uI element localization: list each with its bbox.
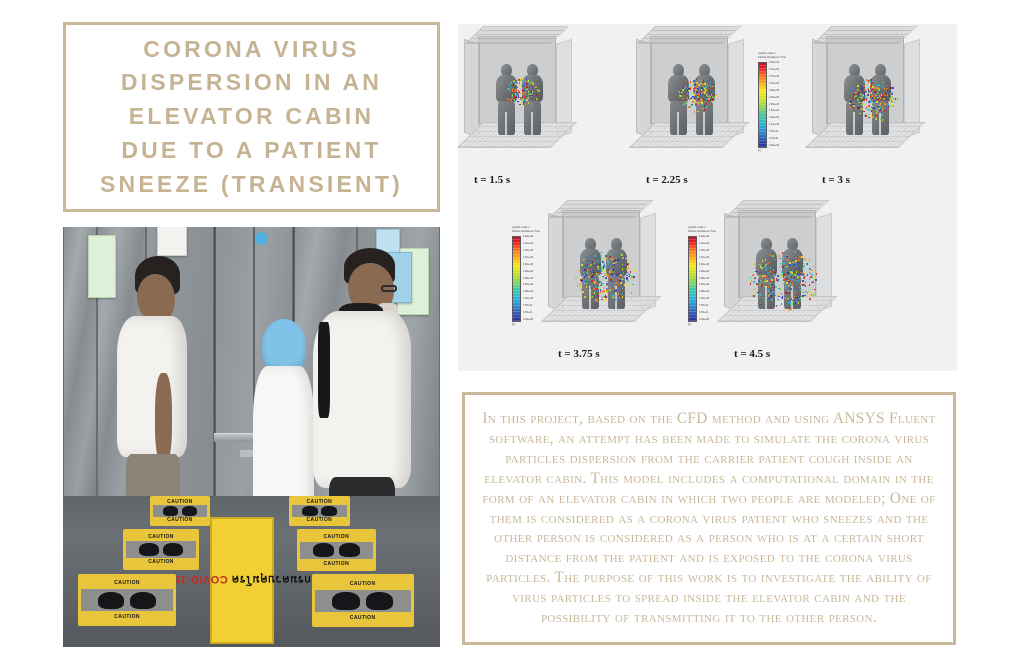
colorbar-tick: 3.37e+00 <box>769 83 779 85</box>
particle <box>615 295 617 297</box>
particle <box>611 258 613 260</box>
particle <box>758 277 760 279</box>
particle <box>612 269 614 271</box>
particle <box>868 109 870 111</box>
foot-shape <box>313 543 334 557</box>
floor-sticker: CAUTION CAUTION <box>289 496 349 526</box>
colorbar-tick: 2.62e+00 <box>523 271 533 273</box>
particle <box>710 85 712 87</box>
particle <box>816 273 818 275</box>
particle-cloud <box>464 36 574 154</box>
particle <box>873 107 875 109</box>
particle <box>708 100 710 102</box>
particle <box>631 277 633 279</box>
particle <box>815 279 817 281</box>
particle <box>610 283 612 285</box>
particle <box>711 101 713 103</box>
foot-shape <box>163 543 183 556</box>
colorbar-tick: 3.75e-01 <box>699 312 709 314</box>
particle <box>868 105 870 107</box>
particle <box>513 80 515 82</box>
particle <box>694 111 696 113</box>
particle-cloud <box>636 36 746 154</box>
colorbar-tick: 1.50e+00 <box>699 291 709 293</box>
particle <box>792 279 794 281</box>
particle <box>758 294 760 296</box>
particle <box>809 278 811 280</box>
particle <box>798 263 800 265</box>
particle <box>795 268 797 270</box>
particle <box>813 265 815 267</box>
particle <box>782 296 784 298</box>
particle <box>585 273 587 275</box>
time-label-1: t = 1.5 s <box>474 174 510 186</box>
colorbar-tick: 3.75e-01 <box>523 312 533 314</box>
particle <box>600 252 602 254</box>
colorbar-tick-labels: 4.50e+004.12e+003.75e+003.37e+003.00e+00… <box>523 236 533 322</box>
colorbar-tick: 0.00e+00 <box>523 319 533 321</box>
particle <box>774 259 776 261</box>
particle <box>706 93 708 95</box>
particle <box>628 268 630 270</box>
particle <box>858 92 860 94</box>
particle <box>775 286 777 288</box>
particle <box>608 265 610 267</box>
particle-cloud <box>548 210 658 328</box>
particle <box>795 257 797 259</box>
particle <box>879 104 881 106</box>
particle <box>681 95 683 97</box>
particle <box>783 283 785 285</box>
colorbar-tick: 4.50e+00 <box>523 236 533 238</box>
particle <box>887 104 889 106</box>
particle <box>690 98 692 100</box>
particle <box>605 277 607 279</box>
cfd-frame-1: particle-mass-1 Particle Residence Time4… <box>458 30 616 200</box>
particle <box>800 272 802 274</box>
particle <box>513 84 515 86</box>
particle <box>803 263 805 265</box>
particle <box>614 283 616 285</box>
particle <box>597 300 599 302</box>
particle <box>600 255 602 257</box>
particle <box>627 280 629 282</box>
particle <box>619 280 621 282</box>
particle <box>787 298 789 300</box>
particle <box>798 259 800 261</box>
particle <box>755 267 757 269</box>
particle <box>764 275 766 277</box>
particle <box>593 272 595 274</box>
particle <box>762 260 764 262</box>
particle <box>799 287 801 289</box>
particle <box>631 280 633 282</box>
particle <box>712 99 714 101</box>
foot-shape <box>182 506 198 515</box>
caution-label: CAUTION <box>300 559 373 568</box>
particle <box>792 298 794 300</box>
particle <box>851 98 853 100</box>
particle <box>590 287 592 289</box>
particle <box>874 98 876 100</box>
particle <box>875 114 877 116</box>
colorbar-tick: 4.12e+00 <box>769 69 779 71</box>
particle <box>811 282 813 284</box>
particle <box>814 276 816 278</box>
particle-cloud <box>724 210 834 328</box>
particle <box>771 279 773 281</box>
particle <box>807 274 809 276</box>
particle <box>589 291 591 293</box>
particle <box>709 91 711 93</box>
particle <box>795 265 797 267</box>
particle <box>604 299 606 301</box>
particle <box>605 296 607 298</box>
particle <box>796 293 798 295</box>
particle <box>782 252 784 254</box>
particle <box>809 284 811 286</box>
particle <box>789 278 791 280</box>
particle-residence-time-colorbar: particle-mass-1 Particle Residence Time4… <box>512 226 540 326</box>
particle <box>759 275 761 277</box>
particle <box>520 98 522 100</box>
particle <box>579 271 581 273</box>
particle <box>610 253 612 255</box>
particle <box>859 113 861 115</box>
particle <box>797 280 799 282</box>
colorbar-tick: 7.50e-01 <box>769 131 779 133</box>
particle <box>510 99 512 101</box>
particle <box>750 283 752 285</box>
particle <box>685 95 687 97</box>
particle <box>866 99 868 101</box>
particle <box>803 292 805 294</box>
colorbar-tick-labels: 4.50e+004.12e+003.75e+003.37e+003.00e+00… <box>699 236 709 322</box>
particle-residence-time-colorbar: particle-mass-1 Particle Residence Time4… <box>688 226 716 326</box>
particle <box>617 257 619 259</box>
particle <box>868 117 870 119</box>
particle <box>697 111 699 113</box>
particle <box>772 291 774 293</box>
particle <box>625 258 627 260</box>
particle <box>884 103 886 105</box>
particle <box>879 86 881 88</box>
particle <box>796 302 798 304</box>
particle <box>754 278 756 280</box>
particle <box>765 259 767 261</box>
particle <box>880 119 882 121</box>
particle <box>701 102 703 104</box>
particle <box>781 303 783 305</box>
particle <box>871 103 873 105</box>
particle <box>696 79 698 81</box>
particle <box>863 94 865 96</box>
particle <box>772 298 774 300</box>
particle <box>593 288 595 290</box>
particle <box>589 282 591 284</box>
particle <box>760 304 762 306</box>
particle <box>877 92 879 94</box>
particle <box>770 295 772 297</box>
foot-shape <box>163 506 179 515</box>
particle <box>621 279 623 281</box>
colorbar-title: particle-mass-1 Particle Residence Time <box>688 226 716 234</box>
particle <box>770 285 772 287</box>
caution-label: CAUTION <box>315 577 411 589</box>
particle <box>865 115 867 117</box>
particle <box>869 80 871 82</box>
caution-label: CAUTION <box>292 517 346 523</box>
particle <box>681 92 683 94</box>
particle <box>617 298 619 300</box>
particle <box>698 84 700 86</box>
particle <box>769 267 771 269</box>
colorbar-tick: 3.37e+00 <box>699 257 709 259</box>
particle <box>689 88 691 90</box>
particle <box>603 287 605 289</box>
particle <box>582 291 584 293</box>
particle <box>575 277 577 279</box>
particle <box>607 261 609 263</box>
particle <box>857 89 859 91</box>
colorbar-tick: 1.50e+00 <box>523 291 533 293</box>
particle <box>517 101 519 103</box>
particle <box>761 284 763 286</box>
particle <box>805 259 807 261</box>
particle <box>766 280 768 282</box>
particle <box>688 85 690 87</box>
particle <box>800 289 802 291</box>
particle <box>861 88 863 90</box>
particle <box>519 104 521 106</box>
particle <box>792 300 794 302</box>
particle <box>584 282 586 284</box>
footprint-icon <box>309 542 365 558</box>
colorbar-tick: 1.87e+00 <box>769 110 779 112</box>
particle <box>692 92 694 94</box>
eyeglasses <box>381 285 397 292</box>
particle <box>704 109 706 111</box>
particle <box>788 285 790 287</box>
description-card: In this project, based on the CFD method… <box>462 392 956 645</box>
particle <box>599 292 601 294</box>
particle <box>754 263 756 265</box>
particle <box>581 275 583 277</box>
particle <box>867 94 869 96</box>
particle <box>713 97 715 99</box>
particle <box>581 280 583 282</box>
particle <box>812 281 814 283</box>
particle <box>774 274 776 276</box>
particle <box>597 295 599 297</box>
particle <box>859 88 861 90</box>
particle <box>619 261 621 263</box>
particle <box>686 103 688 105</box>
particle <box>509 91 511 93</box>
particle <box>795 260 797 262</box>
particle <box>788 288 790 290</box>
particle <box>700 99 702 101</box>
particle-cloud <box>812 36 922 154</box>
footprint-icon <box>326 591 399 612</box>
particle <box>617 289 619 291</box>
particle <box>524 103 526 105</box>
colorbar-tick: 3.75e-01 <box>769 138 779 140</box>
particle <box>882 101 884 103</box>
particle <box>887 89 889 91</box>
particle <box>884 110 886 112</box>
particle <box>754 292 756 294</box>
cfd-frame-5: particle-mass-1 Particle Residence Time4… <box>696 204 876 371</box>
particle <box>883 98 885 100</box>
particle <box>891 93 893 95</box>
particle <box>892 105 894 107</box>
colorbar-tick: 1.12e+00 <box>769 124 779 126</box>
particle <box>701 87 703 89</box>
particle <box>896 98 898 100</box>
particle <box>522 85 524 87</box>
particle <box>881 78 883 80</box>
colorbar-tick-labels: 4.50e+004.12e+003.75e+003.37e+003.00e+00… <box>769 62 779 148</box>
wall-notice-white <box>157 227 187 256</box>
particle <box>777 299 779 301</box>
particle <box>616 274 618 276</box>
torso-shirt <box>117 316 187 457</box>
particle <box>514 90 516 92</box>
colorbar-gradient <box>758 62 767 148</box>
particle <box>630 284 632 286</box>
colorbar-tick: 2.25e+00 <box>769 104 779 106</box>
door-seam <box>214 227 216 496</box>
particle <box>608 274 610 276</box>
particle <box>803 277 805 279</box>
particle <box>519 82 521 84</box>
particle <box>783 279 785 281</box>
particle <box>874 91 876 93</box>
particle <box>603 265 605 267</box>
caution-label: CAUTION <box>153 517 207 523</box>
colorbar-units: [s] <box>758 149 786 152</box>
particle <box>785 285 787 287</box>
particle <box>632 284 634 286</box>
particle <box>882 119 884 121</box>
particle <box>791 303 793 305</box>
particle <box>868 114 870 116</box>
particle <box>883 108 885 110</box>
elevator-domain-box <box>724 210 834 328</box>
particle <box>793 277 795 279</box>
poster-root: Corona Virus Dispersion In An Elevator C… <box>0 0 1020 664</box>
foot-shape <box>339 543 360 557</box>
particle <box>586 286 588 288</box>
description-text: In this project, based on the CFD method… <box>481 409 937 628</box>
particle <box>760 262 762 264</box>
particle <box>873 102 875 104</box>
particle <box>864 89 866 91</box>
particle <box>851 104 853 106</box>
particle <box>871 110 873 112</box>
particle <box>778 255 780 257</box>
particle <box>614 264 616 266</box>
particle <box>526 83 528 85</box>
particle <box>603 296 605 298</box>
particle <box>679 96 681 98</box>
footprint-icon <box>299 506 340 517</box>
particle <box>750 277 752 279</box>
covid-floor-strip: กรมควบคุมโรค COVID-19 <box>210 517 274 644</box>
particle <box>852 107 854 109</box>
footprint-icon <box>92 590 162 610</box>
particle <box>612 274 614 276</box>
particle <box>876 107 878 109</box>
particle <box>755 286 757 288</box>
particle <box>612 271 614 273</box>
colorbar-tick: 1.87e+00 <box>523 284 533 286</box>
particle <box>859 97 861 99</box>
particle <box>885 85 887 87</box>
particle <box>612 281 614 283</box>
particle <box>779 278 781 280</box>
particle <box>610 289 612 291</box>
colorbar-tick: 3.37e+00 <box>523 257 533 259</box>
particle <box>594 292 596 294</box>
particle <box>614 286 616 288</box>
particle <box>804 295 806 297</box>
particle <box>620 253 622 255</box>
caution-label: CAUTION <box>81 611 173 623</box>
particle <box>626 268 628 270</box>
floor-sticker: CAUTION CAUTION <box>150 496 210 526</box>
particle <box>774 295 776 297</box>
colorbar-units: [s] <box>512 323 540 326</box>
particle <box>538 90 540 92</box>
particle <box>522 93 524 95</box>
covid-strip-thai: กรมควบคุมโรค <box>231 573 311 585</box>
floor-sticker: CAUTION CAUTION <box>312 574 414 627</box>
particle <box>615 254 617 256</box>
particle <box>755 271 757 273</box>
particle <box>626 264 628 266</box>
particle <box>863 81 865 83</box>
caution-label: CAUTION <box>300 532 373 541</box>
particle <box>802 280 804 282</box>
particle <box>576 270 578 272</box>
time-label-3: t = 3 s <box>822 174 850 186</box>
particle <box>616 282 618 284</box>
colorbar-gradient <box>512 236 521 322</box>
colorbar-tick: 2.62e+00 <box>699 271 709 273</box>
particle <box>878 89 880 91</box>
particle <box>688 93 690 95</box>
particle <box>628 261 630 263</box>
particle <box>871 90 873 92</box>
particle <box>584 296 586 298</box>
particle <box>634 270 636 272</box>
particle <box>776 306 778 308</box>
particle <box>705 103 707 105</box>
particle <box>620 282 622 284</box>
particle <box>769 294 771 296</box>
particle <box>607 269 609 271</box>
particle <box>602 261 604 263</box>
particle <box>809 298 811 300</box>
colorbar-tick: 0.00e+00 <box>769 145 779 147</box>
particle <box>703 99 705 101</box>
particle <box>606 292 608 294</box>
particle <box>797 276 799 278</box>
particle <box>762 297 764 299</box>
particle <box>597 266 599 268</box>
